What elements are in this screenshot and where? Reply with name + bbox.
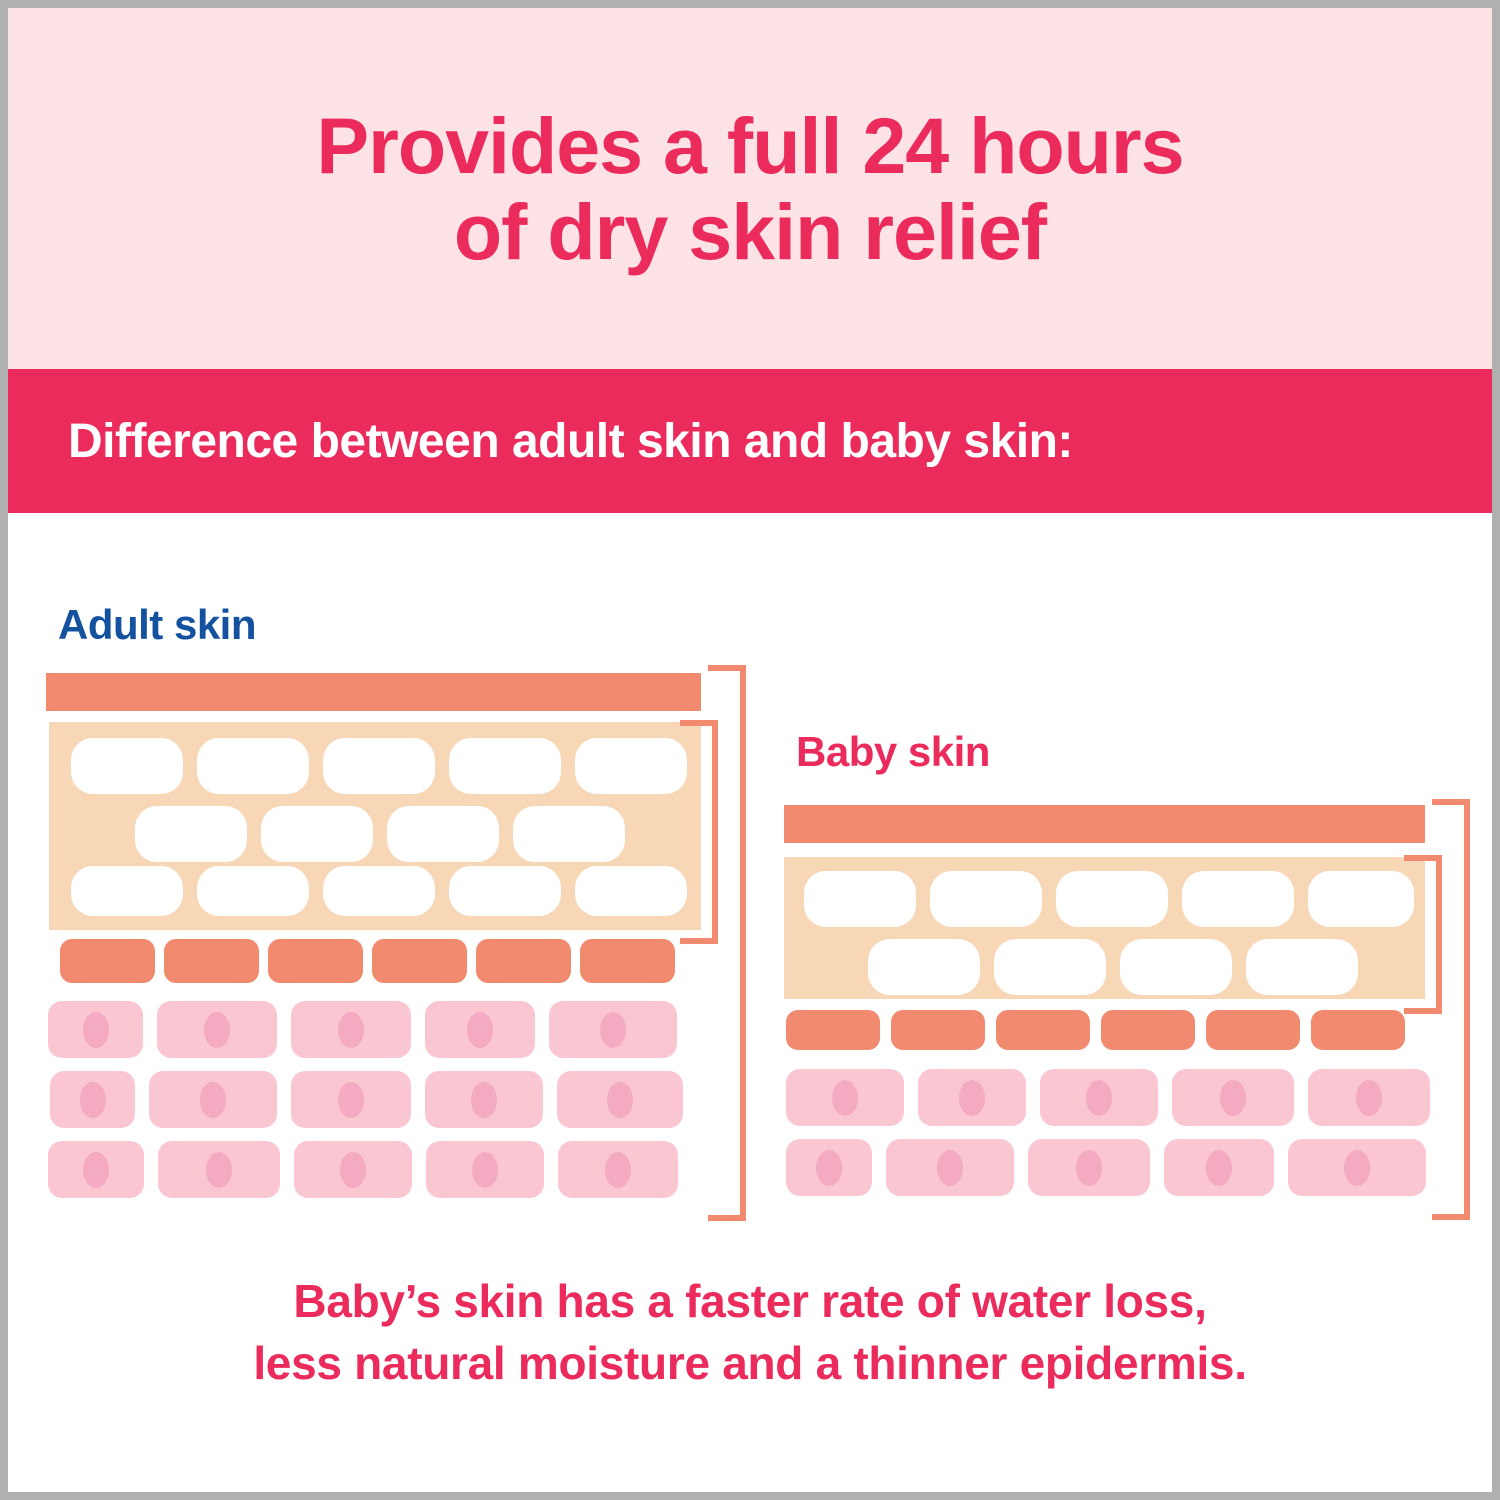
dermis-cell	[291, 1071, 411, 1128]
infographic-frame: Provides a full 24 hours of dry skin rel…	[8, 8, 1492, 1492]
epidermis-cell	[513, 806, 625, 862]
basal-cell	[1206, 1010, 1300, 1050]
section-header-title: Difference between adult skin and baby s…	[8, 414, 1073, 469]
caption: Baby’s skin has a faster rate of water l…	[8, 1270, 1492, 1394]
dermis-cell	[425, 1071, 543, 1128]
basal-cell	[996, 1010, 1090, 1050]
dermis-cell	[918, 1069, 1026, 1126]
dermis-cell	[50, 1071, 135, 1128]
dermis-cell	[786, 1069, 904, 1126]
basal-cell	[1311, 1010, 1405, 1050]
baby-dermis-row	[786, 1069, 1430, 1126]
caption-line-1: Baby’s skin has a faster rate of water l…	[8, 1270, 1492, 1332]
epidermis-cell	[135, 806, 247, 862]
basal-cell	[580, 939, 675, 983]
basal-cell	[891, 1010, 985, 1050]
basal-cell	[786, 1010, 880, 1050]
adult-stratum-corneum	[46, 673, 701, 711]
hero-title-line-2: of dry skin relief	[120, 189, 1380, 274]
basal-cell	[164, 939, 259, 983]
hero-banner: Provides a full 24 hours of dry skin rel…	[8, 8, 1492, 369]
dermis-cell	[48, 1141, 144, 1198]
section-header-band: Difference between adult skin and baby s…	[8, 369, 1492, 513]
epidermis-cell	[449, 866, 561, 916]
adult-epidermis	[49, 722, 701, 930]
dermis-cell	[157, 1001, 277, 1058]
page-title: Provides a full 24 hours of dry skin rel…	[120, 103, 1380, 274]
baby-epidermis	[784, 857, 1425, 999]
epidermis-cell	[323, 866, 435, 916]
baby-skin-label: Baby skin	[796, 728, 990, 776]
adult-skin-label: Adult skin	[58, 601, 256, 649]
adult-skin-panel: Adult skin	[8, 513, 748, 1273]
epidermis-cell	[197, 866, 309, 916]
epidermis-cell	[323, 738, 435, 794]
dermis-cell	[557, 1071, 683, 1128]
epidermis-cell	[575, 866, 687, 916]
baby-basal-layer	[786, 1010, 1405, 1050]
basal-cell	[476, 939, 571, 983]
epidermis-cell	[71, 866, 183, 916]
dermis-cell	[1172, 1069, 1294, 1126]
dermis-cell	[786, 1139, 872, 1196]
adult-dermis-row	[48, 1001, 677, 1058]
caption-line-2: less natural moisture and a thinner epid…	[8, 1332, 1492, 1394]
dermis-cell	[1288, 1139, 1426, 1196]
dermis-cell	[294, 1141, 412, 1198]
dermis-cell	[558, 1141, 678, 1198]
epidermis-cell	[868, 939, 980, 995]
dermis-cell	[549, 1001, 677, 1058]
dermis-cell	[291, 1001, 411, 1058]
dermis-cell	[886, 1139, 1014, 1196]
dermis-cell	[1028, 1139, 1150, 1196]
dermis-cell	[1164, 1139, 1274, 1196]
epidermis-cell	[1056, 871, 1168, 927]
baby-full-skin-bracket	[1432, 799, 1470, 1220]
dermis-cell	[426, 1141, 544, 1198]
dermis-cell	[425, 1001, 535, 1058]
basal-cell	[60, 939, 155, 983]
dermis-cell	[149, 1071, 277, 1128]
baby-stratum-corneum	[784, 805, 1425, 843]
baby-dermis-row	[786, 1139, 1426, 1196]
adult-basal-layer	[60, 939, 675, 983]
epidermis-cell	[575, 738, 687, 794]
epidermis-cell	[449, 738, 561, 794]
epidermis-cell	[387, 806, 499, 862]
basal-cell	[372, 939, 467, 983]
hero-title-line-1: Provides a full 24 hours	[120, 103, 1380, 188]
epidermis-cell	[804, 871, 916, 927]
epidermis-cell	[994, 939, 1106, 995]
epidermis-cell	[1308, 871, 1414, 927]
epidermis-cell	[197, 738, 309, 794]
adult-full-skin-bracket	[708, 665, 746, 1221]
dermis-cell	[48, 1001, 143, 1058]
baby-skin-panel: Baby skin	[748, 513, 1492, 1273]
epidermis-cell	[930, 871, 1042, 927]
adult-dermis-row	[48, 1141, 678, 1198]
skin-comparison-diagram: Adult skin	[8, 513, 1492, 1273]
dermis-cell	[1040, 1069, 1158, 1126]
epidermis-cell	[1182, 871, 1294, 927]
basal-cell	[268, 939, 363, 983]
epidermis-cell	[261, 806, 373, 862]
basal-cell	[1101, 1010, 1195, 1050]
dermis-cell	[158, 1141, 280, 1198]
epidermis-cell	[71, 738, 183, 794]
epidermis-cell	[1246, 939, 1358, 995]
epidermis-cell	[1120, 939, 1232, 995]
adult-dermis-row	[50, 1071, 683, 1128]
dermis-cell	[1308, 1069, 1430, 1126]
